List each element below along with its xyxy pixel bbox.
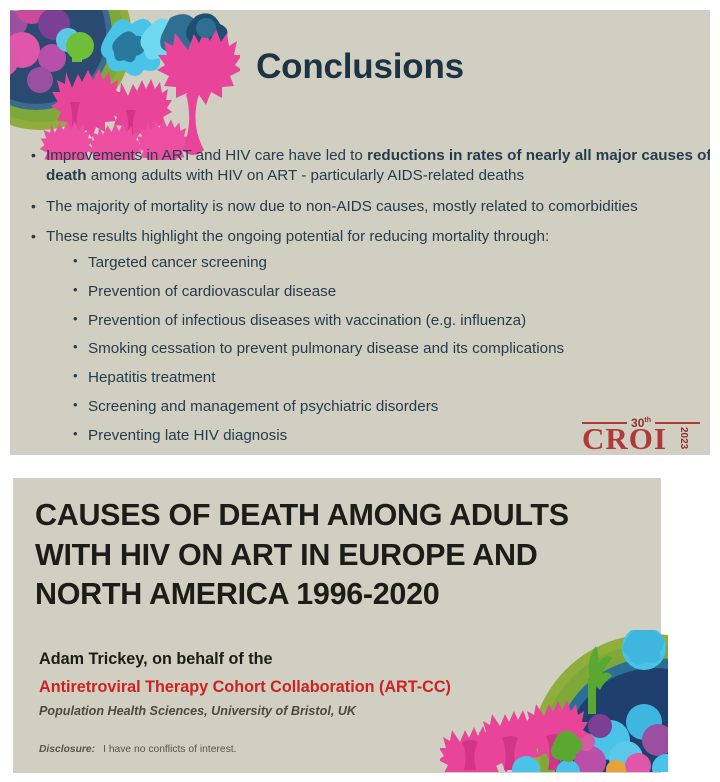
affiliation-line: Population Health Sciences, University o… — [39, 704, 356, 718]
collaboration-group-line: Antiretroviral Therapy Cohort Collaborat… — [39, 678, 451, 697]
sub-bullet-item: •Prevention of infectious diseases with … — [72, 311, 710, 331]
bullet-text-post: among adults with HIV on ART - particula… — [87, 167, 525, 184]
bullet-dot-icon: • — [73, 426, 78, 443]
sub-bullet-text: Smoking cessation to prevent pulmonary d… — [88, 340, 564, 357]
sub-bullet-text: Prevention of cardiovascular disease — [88, 283, 336, 300]
bullet-dot-icon: • — [73, 368, 78, 385]
bullet-text-pre: Improvements in ART and HIV care have le… — [46, 147, 367, 164]
bullet-dot-icon: • — [31, 227, 36, 245]
sub-bullet-text: Screening and management of psychiatric … — [88, 398, 438, 415]
bullet-dot-icon: • — [73, 311, 78, 328]
slide-title-content: CAUSES OF DEATH AMONG ADULTS WITH HIV ON… — [13, 478, 661, 773]
bullet-text: The majority of mortality is now due to … — [46, 198, 638, 215]
bullet-item: •Improvements in ART and HIV care have l… — [28, 146, 710, 186]
bullet-dot-icon: • — [73, 397, 78, 414]
disclosure-line: Disclosure:I have no conflicts of intere… — [39, 744, 236, 755]
bullet-item: •The majority of mortality is now due to… — [28, 197, 710, 217]
bullet-text: These results highlight the ongoing pote… — [46, 228, 549, 245]
croi-wordmark: CROI — [582, 423, 682, 454]
bullet-dot-icon: • — [31, 146, 36, 164]
bullet-dot-icon: • — [73, 339, 78, 356]
croi-logo: 30th CROI 2023 — [582, 409, 700, 455]
slide-conclusions[interactable]: Conclusions •Improvements in ART and HIV… — [10, 10, 710, 455]
slide-title-page[interactable]: CAUSES OF DEATH AMONG ADULTS WITH HIV ON… — [13, 478, 661, 773]
sub-bullet-item: •Smoking cessation to prevent pulmonary … — [72, 339, 710, 359]
sub-bullet-text: Preventing late HIV diagnosis — [88, 427, 287, 444]
page-title: Conclusions — [10, 47, 710, 87]
bullet-dot-icon: • — [73, 282, 78, 299]
presentation-title: CAUSES OF DEATH AMONG ADULTS WITH HIV ON… — [35, 496, 635, 615]
sub-bullet-item: •Prevention of cardiovascular disease — [72, 282, 710, 302]
croi-year-label: 2023 — [678, 427, 688, 449]
author-line: Adam Trickey, on behalf of the — [39, 650, 273, 669]
sub-bullet-item: •Targeted cancer screening — [72, 253, 710, 273]
disclosure-text: I have no conflicts of interest. — [103, 744, 236, 755]
bullet-dot-icon: • — [31, 197, 36, 215]
sub-bullet-text: Hepatitis treatment — [88, 369, 215, 386]
sub-bullet-item: •Hepatitis treatment — [72, 368, 710, 388]
bullet-dot-icon: • — [73, 253, 78, 270]
sub-bullet-text: Targeted cancer screening — [88, 254, 267, 271]
disclosure-label: Disclosure: — [39, 744, 95, 755]
sub-bullet-text: Prevention of infectious diseases with v… — [88, 312, 526, 329]
